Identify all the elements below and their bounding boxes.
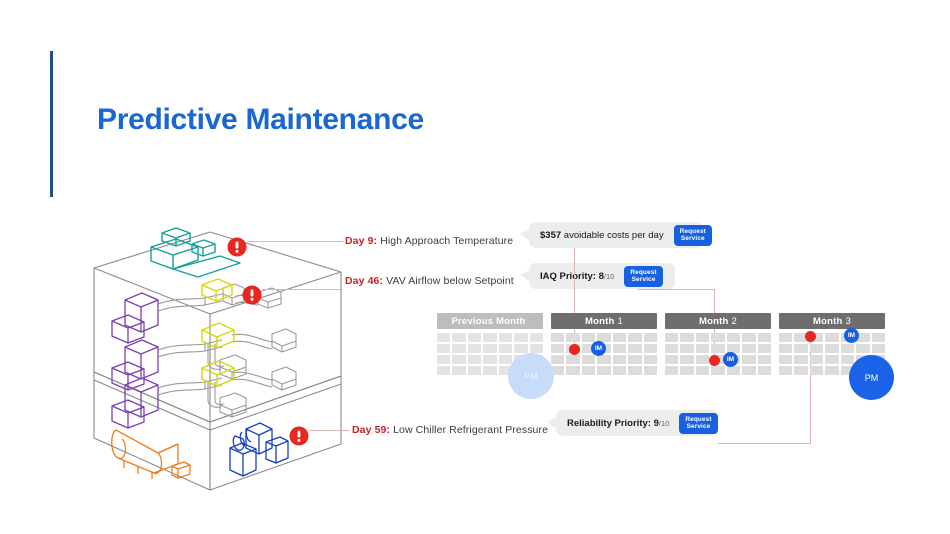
- fault-marker-month-2[interactable]: [709, 355, 720, 366]
- calendar-cell[interactable]: [566, 366, 579, 375]
- request-service-button-day-46[interactable]: Request Service: [624, 266, 662, 287]
- fault-text-day-59: Low Chiller Refrigerant Pressure: [393, 424, 548, 436]
- calendar-cell[interactable]: [437, 344, 450, 353]
- calendar-cell[interactable]: [680, 366, 693, 375]
- calendar-month-2: Month 2: [665, 313, 771, 375]
- calendar-cell[interactable]: [856, 344, 869, 353]
- calendar-title: Month: [813, 316, 843, 327]
- slide-canvas: Predictive Maintenance: [0, 0, 950, 534]
- calendar-cell[interactable]: [825, 366, 838, 375]
- bubble-tail: [520, 229, 530, 241]
- alert-badge-rooftop-icon: [228, 238, 247, 257]
- leader-line-day59: [310, 430, 350, 431]
- connector-day59-h: [718, 443, 811, 444]
- pm-circle-previous-month[interactable]: PM: [508, 353, 554, 399]
- calendar-cell[interactable]: [483, 344, 496, 353]
- calendar-title-number: 1: [618, 316, 623, 327]
- calendar-cell[interactable]: [665, 344, 678, 353]
- calendar-cell[interactable]: [665, 355, 678, 364]
- calendar-cell[interactable]: [644, 333, 657, 342]
- calendar-cell[interactable]: [468, 355, 481, 364]
- calendar-cell[interactable]: [499, 333, 512, 342]
- callout-label-day-9: Day 9: High Approach Temperature: [345, 235, 513, 247]
- fault-marker-month-1[interactable]: [569, 344, 580, 355]
- calendar-cell[interactable]: [566, 355, 579, 364]
- calendar-cell[interactable]: [551, 355, 564, 364]
- request-service-line1: Request: [685, 416, 711, 423]
- building-diagram: [80, 222, 355, 502]
- request-service-line2: Service: [681, 235, 705, 242]
- calendar-cell[interactable]: [794, 366, 807, 375]
- metric-suffix-day-59: /10: [659, 419, 669, 428]
- vav-box-floor-2-icon: [202, 323, 234, 348]
- calendar-cell[interactable]: [468, 333, 481, 342]
- calendar-cell[interactable]: [680, 333, 693, 342]
- calendar-cell[interactable]: [628, 366, 641, 375]
- calendar-cell[interactable]: [597, 366, 610, 375]
- leader-line-day46: [263, 289, 343, 290]
- calendar-cell[interactable]: [872, 333, 885, 342]
- calendar-title-number: 3: [846, 316, 851, 327]
- im-marker-month-2[interactable]: IM: [723, 352, 738, 367]
- calendar-header-month-2: Month 2: [665, 313, 771, 329]
- request-service-line1: Request: [680, 228, 706, 235]
- page-title: Predictive Maintenance: [97, 103, 424, 137]
- calendar-cell[interactable]: [499, 355, 512, 364]
- calendar-cell[interactable]: [613, 344, 626, 353]
- bubble-tail: [547, 417, 557, 429]
- rooftop-unit-icon: [151, 228, 240, 277]
- calendar-cell[interactable]: [779, 344, 792, 353]
- request-service-button-day-9[interactable]: Request Service: [674, 225, 712, 246]
- calendar-cell[interactable]: [872, 344, 885, 353]
- calendar-grid: [665, 333, 771, 375]
- calendar-cell[interactable]: [628, 344, 641, 353]
- calendar-cell[interactable]: [452, 366, 465, 375]
- calendar-cell[interactable]: [437, 355, 450, 364]
- calendar-title: Previous Month: [451, 316, 525, 327]
- calendar-cell[interactable]: [613, 333, 626, 342]
- calendar-cell[interactable]: [779, 355, 792, 364]
- day-label-day-59: Day 59:: [352, 424, 390, 436]
- pm-circle-month-3[interactable]: PM: [849, 355, 894, 400]
- request-service-line2: Service: [687, 423, 711, 430]
- calendar-cell[interactable]: [696, 344, 709, 353]
- calendar-cell[interactable]: [711, 333, 724, 342]
- calendar-cell[interactable]: [437, 333, 450, 342]
- metric-bubble-day-59: Reliability Priority: 9/10 Request Servi…: [556, 410, 718, 436]
- metric-label-day-46: IAQ Priority:: [540, 271, 596, 282]
- calendar-cell[interactable]: [680, 344, 693, 353]
- calendar-cell[interactable]: [841, 355, 854, 364]
- calendar-cell[interactable]: [758, 366, 771, 375]
- calendar-cell[interactable]: [468, 366, 481, 375]
- calendar-cell[interactable]: [613, 355, 626, 364]
- calendar-cell[interactable]: [825, 333, 838, 342]
- calendar-title-number: 2: [732, 316, 737, 327]
- fault-text-day-46: VAV Airflow below Setpoint: [386, 275, 514, 287]
- request-service-button-day-59[interactable]: Request Service: [679, 413, 717, 434]
- calendar-cell[interactable]: [742, 366, 755, 375]
- calendar-header-previous-month: Previous Month: [437, 313, 543, 329]
- vav-box-floor-3-icon: [202, 361, 234, 386]
- calendar-cell[interactable]: [582, 333, 595, 342]
- calendar-cell[interactable]: [483, 355, 496, 364]
- calendar-cell[interactable]: [779, 366, 792, 375]
- calendar-cell[interactable]: [665, 333, 678, 342]
- calendar-cell[interactable]: [551, 344, 564, 353]
- ahu-floor-1-icon: [112, 293, 158, 343]
- request-service-line2: Service: [632, 276, 656, 283]
- calendar-cell[interactable]: [582, 366, 595, 375]
- calendar-cell[interactable]: [452, 333, 465, 342]
- leader-line-day9: [247, 241, 343, 242]
- metric-text-day-46: IAQ Priority: 8/10: [540, 271, 614, 282]
- calendar-cell[interactable]: [499, 344, 512, 353]
- metric-bubble-day-9: $357 avoidable costs per day Request Ser…: [529, 222, 703, 248]
- calendar-cell[interactable]: [841, 344, 854, 353]
- chiller-icon: [230, 423, 288, 476]
- calendar-cell[interactable]: [551, 333, 564, 342]
- calendar-cell[interactable]: [483, 366, 496, 375]
- callout-label-day-46: Day 46: VAV Airflow below Setpoint: [345, 275, 514, 287]
- calendar-cell[interactable]: [597, 355, 610, 364]
- calendar-cell[interactable]: [742, 333, 755, 342]
- metric-label-day-59: Reliability Priority:: [567, 418, 651, 429]
- calendar-cell[interactable]: [483, 333, 496, 342]
- calendar-cell[interactable]: [711, 366, 724, 375]
- calendar-cell[interactable]: [582, 355, 595, 364]
- day-label-day-9: Day 9:: [345, 235, 377, 247]
- calendar-cell[interactable]: [644, 344, 657, 353]
- calendar-cell[interactable]: [711, 344, 724, 353]
- calendar-cell[interactable]: [644, 355, 657, 364]
- metric-text-day-9: $357 avoidable costs per day: [540, 230, 664, 241]
- calendar-cell[interactable]: [680, 355, 693, 364]
- im-marker-month-1[interactable]: IM: [591, 341, 606, 356]
- calendar-cell[interactable]: [514, 333, 527, 342]
- calendar-cell[interactable]: [794, 344, 807, 353]
- calendar-header-month-1: Month 1: [551, 313, 657, 329]
- calendar-cell[interactable]: [628, 333, 641, 342]
- calendar-cell[interactable]: [810, 355, 823, 364]
- calendar-cell[interactable]: [810, 366, 823, 375]
- calendar-cell[interactable]: [628, 355, 641, 364]
- title-accent-bar: [50, 51, 53, 197]
- bubble-tail: [520, 270, 530, 282]
- day-label-day-46: Day 46:: [345, 275, 383, 287]
- calendar-cell[interactable]: [810, 344, 823, 353]
- boiler-icon: [112, 430, 190, 479]
- calendar-cell[interactable]: [696, 366, 709, 375]
- calendar-header-month-3: Month 3: [779, 313, 885, 329]
- alert-badge-chiller-icon: [290, 427, 309, 446]
- calendar-cell[interactable]: [758, 344, 771, 353]
- calendar-cell[interactable]: [613, 366, 626, 375]
- calendar-cell[interactable]: [758, 333, 771, 342]
- calendar-title: Month: [699, 316, 729, 327]
- calendar-cell[interactable]: [530, 344, 543, 353]
- metric-suffix-day-46: /10: [604, 272, 614, 281]
- fault-marker-month-3[interactable]: [805, 331, 816, 342]
- calendar-cell[interactable]: [727, 333, 740, 342]
- calendar-cell[interactable]: [696, 333, 709, 342]
- calendar-cell[interactable]: [825, 355, 838, 364]
- calendar-cell[interactable]: [452, 355, 465, 364]
- callout-label-day-59: Day 59: Low Chiller Refrigerant Pressure: [352, 424, 548, 436]
- metric-text-day-59: Reliability Priority: 9/10: [567, 418, 669, 429]
- calendar-cell[interactable]: [566, 333, 579, 342]
- calendar-cell[interactable]: [468, 344, 481, 353]
- calendar-cell[interactable]: [514, 344, 527, 353]
- calendar-cell[interactable]: [437, 366, 450, 375]
- metric-bubble-day-46: IAQ Priority: 8/10 Request Service: [529, 263, 675, 289]
- connector-day46-h: [638, 289, 715, 290]
- metric-value-day-9: $357: [540, 230, 561, 241]
- calendar-cell[interactable]: [779, 333, 792, 342]
- metric-unit-day-9: avoidable costs per day: [564, 230, 664, 241]
- calendar-cell[interactable]: [696, 355, 709, 364]
- calendar-cell[interactable]: [825, 344, 838, 353]
- calendar-cell[interactable]: [742, 355, 755, 364]
- request-service-line1: Request: [630, 269, 656, 276]
- calendar-cell[interactable]: [665, 366, 678, 375]
- fault-text-day-9: High Approach Temperature: [380, 235, 513, 247]
- calendar-cell[interactable]: [742, 344, 755, 353]
- calendar-cell[interactable]: [794, 355, 807, 364]
- calendar-grid: [551, 333, 657, 375]
- calendar-cell[interactable]: [452, 344, 465, 353]
- calendar-cell[interactable]: [530, 333, 543, 342]
- calendar-title: Month: [585, 316, 615, 327]
- calendar-cell[interactable]: [758, 355, 771, 364]
- calendar-cell[interactable]: [644, 366, 657, 375]
- alert-badge-vav-icon: [243, 286, 262, 305]
- im-marker-month-3[interactable]: IM: [844, 328, 859, 343]
- calendar-cell[interactable]: [727, 366, 740, 375]
